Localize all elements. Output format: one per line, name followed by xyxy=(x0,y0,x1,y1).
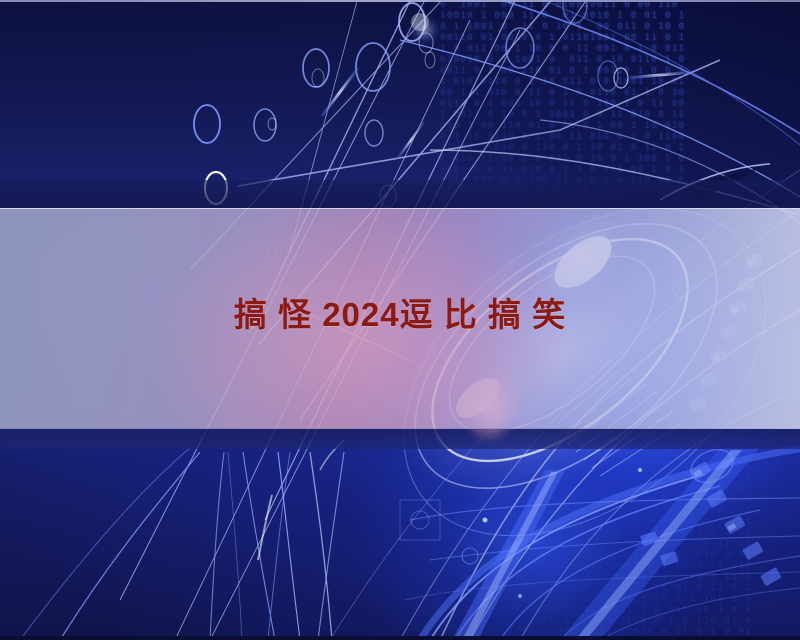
top-edge-line xyxy=(0,0,800,2)
band-strip-above xyxy=(0,180,800,208)
band-strip-below xyxy=(0,429,800,449)
banner-headline: 搞 怪 2024逗 比 搞 笑 xyxy=(0,288,800,336)
bottom-edge-line xyxy=(0,636,800,640)
banner-image: 0 1001 00 11 0 010010011 0 00 110 10010 … xyxy=(0,0,800,640)
